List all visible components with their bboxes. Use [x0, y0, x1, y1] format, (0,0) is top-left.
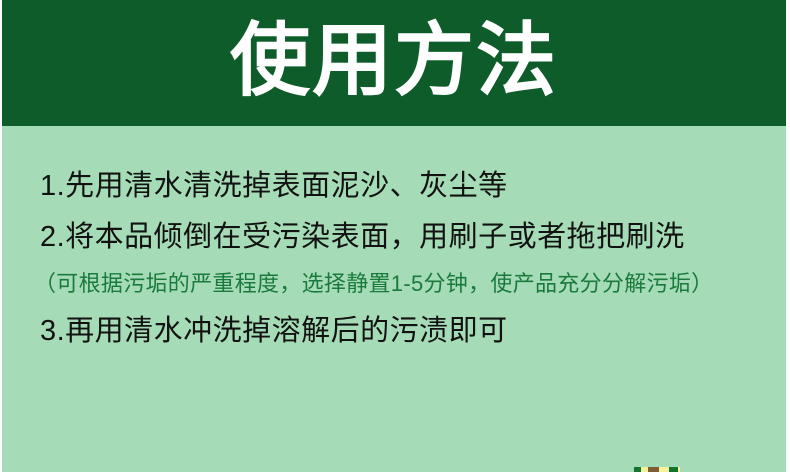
step-item-2: 2.将本品倾倒在受污染表面，用刷子或者拖把刷洗 [40, 223, 766, 252]
left-edge-strip [0, 0, 2, 472]
page-title: 使用方法 [230, 21, 558, 105]
banner-header: 使用方法 [2, 0, 786, 126]
right-edge-strip [786, 0, 790, 472]
step-item-3: 3.再用清水冲洗掉溶解后的污渍即可 [40, 317, 766, 346]
instructions-panel: 1.先用清水清洗掉表面泥沙、灰尘等 2.将本品倾倒在受污染表面，用刷子或者拖把刷… [2, 126, 786, 472]
step-note: （可根据污垢的严重程度，选择静置1-5分钟，使产品充分分解污垢） [34, 273, 766, 295]
steps-list: 1.先用清水清洗掉表面泥沙、灰尘等 2.将本品倾倒在受污染表面，用刷子或者拖把刷… [40, 172, 766, 346]
product-instructions-graphic: 使用方法 1.先用清水清洗掉表面泥沙、灰尘等 2.将本品倾倒在受污染表面，用刷子… [0, 0, 790, 472]
next-image-sliver [634, 467, 680, 472]
step-item-1: 1.先用清水清洗掉表面泥沙、灰尘等 [40, 172, 766, 201]
